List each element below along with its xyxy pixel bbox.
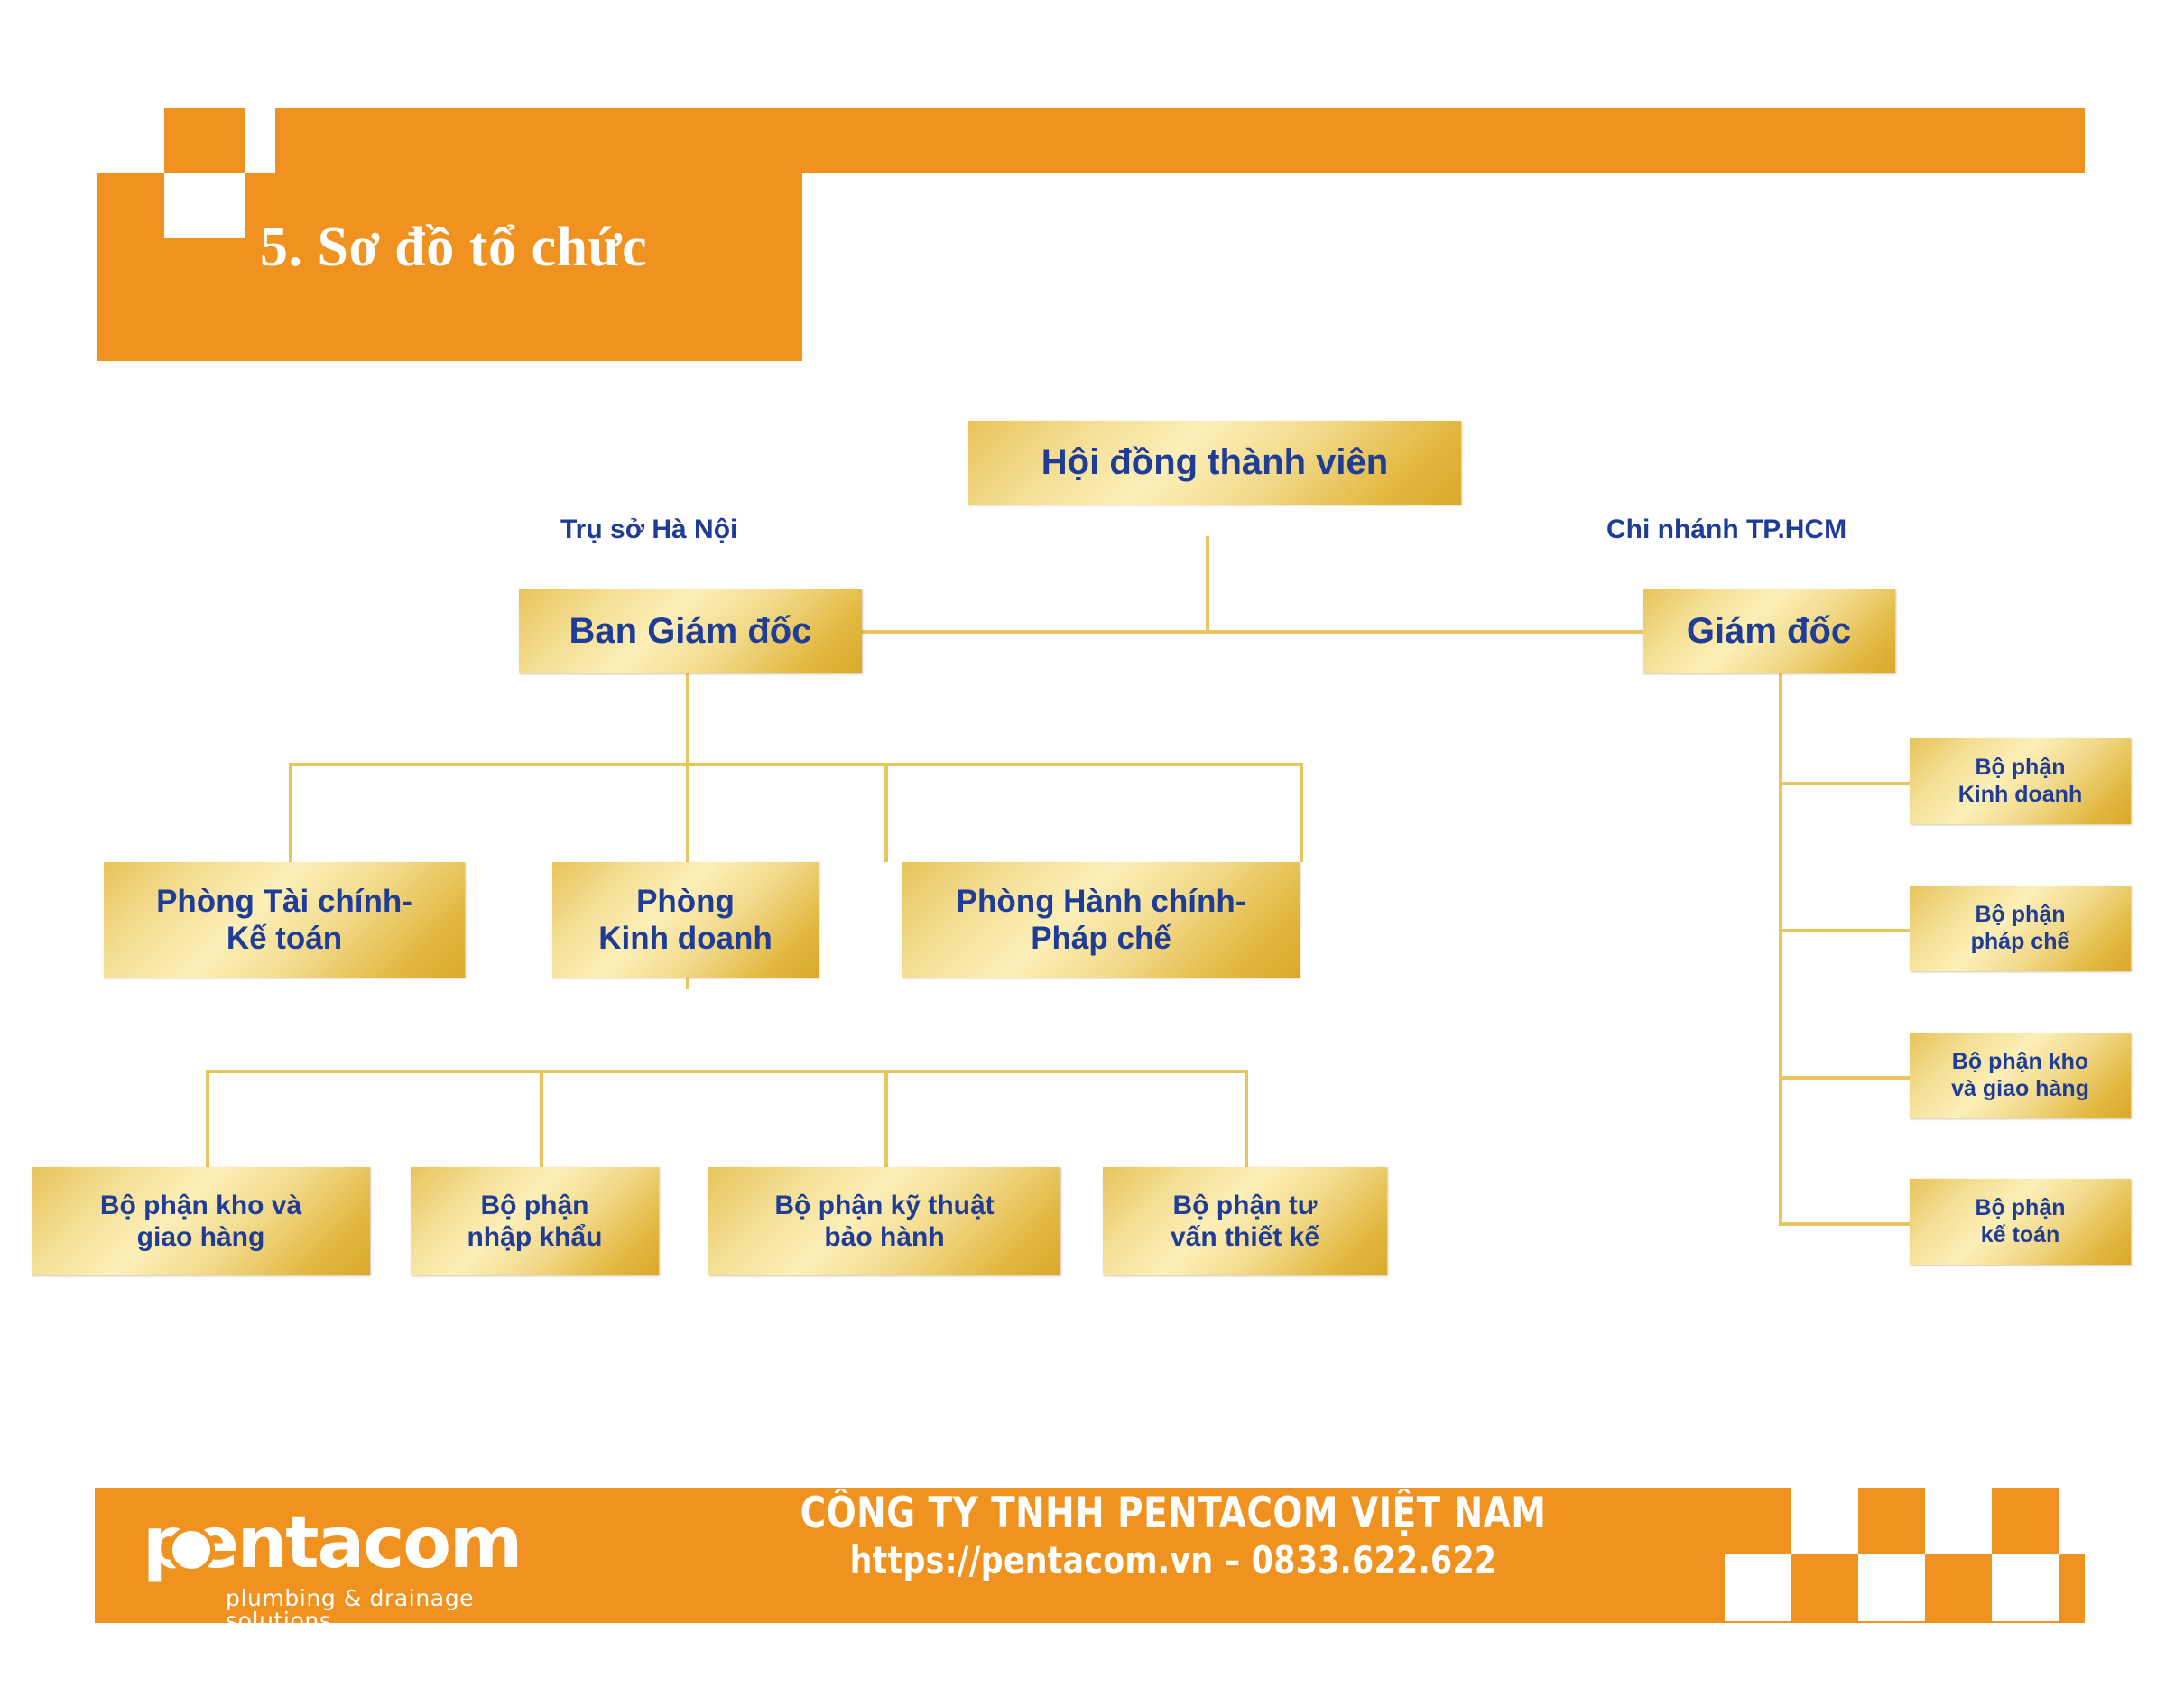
node-ban-giam-doc[interactable]: Ban Giám đốc <box>519 589 862 673</box>
node-line-1: Phòng Hành chính- <box>957 883 1246 920</box>
connector-hanoi-row1-bus <box>289 763 1303 766</box>
node-line-2: nhập khẩu <box>467 1221 602 1253</box>
node-bo-phan-ky-thuat-bao-hanh[interactable]: Bộ phận kỹ thuật bảo hành <box>708 1167 1060 1275</box>
node-line-1: Bộ phận kho và <box>100 1190 301 1221</box>
node-hcm-bo-phan-ke-toan[interactable]: Bộ phận kế toán <box>1910 1179 2131 1265</box>
connector-hcm-stub-2 <box>1779 929 1910 932</box>
node-phong-hanh-chinh-phap-che[interactable]: Phòng Hành chính- Pháp chế <box>902 862 1300 978</box>
node-bo-phan-kho-va-giao-hang[interactable]: Bộ phận kho và giao hàng <box>32 1167 370 1275</box>
node-line-2: pháp chế <box>1971 929 2070 956</box>
footer-company-block: CÔNG TY TNHH PENTACOM VIỆT NAM https://p… <box>740 1489 1606 1583</box>
node-line-2: Kinh doanh <box>1958 782 2082 809</box>
node-line-1: Bộ phận kho <box>1952 1049 2088 1076</box>
connector-hanoi-row2-drop-1 <box>206 1070 209 1167</box>
node-line-2: Kinh doanh <box>598 920 772 957</box>
node-bo-phan-tu-van-thiet-ke[interactable]: Bộ phận tư vấn thiết kế <box>1103 1167 1387 1275</box>
footer-square-white-1 <box>1791 1488 1858 1554</box>
connector-root-stem <box>1206 536 1209 632</box>
connector-hcm-stub-1 <box>1779 782 1910 785</box>
connector-hcm-trunk <box>1779 673 1782 1226</box>
footer-square-white-4 <box>1725 1554 1791 1621</box>
node-hoi-dong-thanh-vien[interactable]: Hội đồng thành viên <box>968 421 1461 505</box>
node-line-1: Bộ phận <box>1976 1195 2066 1222</box>
node-bo-phan-nhap-khau[interactable]: Bộ phận nhập khẩu <box>411 1167 659 1275</box>
footer-square-white-5 <box>1858 1554 1925 1621</box>
node-line-1: Bộ phận <box>481 1190 589 1221</box>
connector-hanoi-row2-drop-3 <box>884 1070 888 1167</box>
node-line-1: Bộ phận <box>1976 755 2066 782</box>
org-chart: Trụ sở Hà Nội Chi nhánh TP.HCM Hội đồng … <box>0 0 2184 1408</box>
node-line-2: vấn thiết kế <box>1171 1221 1319 1253</box>
node-line-2: Kế toán <box>227 920 342 957</box>
company-name: CÔNG TY TNHH PENTACOM VIỆT NAM <box>774 1489 1571 1538</box>
node-line-2: bảo hành <box>824 1221 944 1253</box>
node-hcm-bo-phan-kinh-doanh[interactable]: Bộ phận Kinh doanh <box>1910 738 2131 824</box>
node-line-1: Bộ phận <box>1976 902 2066 929</box>
connector-hanoi-row1-drop-2 <box>686 763 689 862</box>
connector-hcm-stub-4 <box>1779 1222 1910 1226</box>
connector-hanoi-row1-drop-3 <box>884 763 888 862</box>
node-phong-tai-chinh-ke-toan[interactable]: Phòng Tài chính- Kế toán <box>104 862 465 978</box>
logo-tagline: plumbing & drainage solutions <box>226 1587 541 1632</box>
branch-label-hcm: Chi nhánh TP.HCM <box>1606 515 1846 545</box>
connector-hanoi-row2-drop-2 <box>540 1070 543 1167</box>
node-line-1: Phòng <box>636 883 735 920</box>
connector-hanoi-row2-drop-4 <box>1245 1070 1248 1167</box>
water-drop-icon <box>168 1526 215 1573</box>
node-line-1: Bộ phận tư <box>1172 1190 1317 1221</box>
footer-square-white-6 <box>1992 1554 2059 1621</box>
connector-hanoi-row2-bus <box>206 1070 1248 1073</box>
footer-square-white-2 <box>1925 1488 1992 1554</box>
node-line-2: giao hàng <box>137 1221 265 1253</box>
node-hcm-bo-phan-kho-va-giao-hang[interactable]: Bộ phận kho và giao hàng <box>1910 1033 2131 1118</box>
node-hcm-bo-phan-phap-che[interactable]: Bộ phận pháp chế <box>1910 886 2131 971</box>
node-line-2: và giao hàng <box>1951 1076 2089 1103</box>
node-phong-kinh-doanh[interactable]: Phòng Kinh doanh <box>552 862 819 978</box>
node-giam-doc[interactable]: Giám đốc <box>1643 589 1895 673</box>
slide-page: 5. Sơ đồ tổ chức Trụ sở Hà N <box>0 0 2184 1688</box>
node-line-2: kế toán <box>1981 1222 2060 1249</box>
node-line-2: Pháp chế <box>1031 920 1171 957</box>
connector-hanoi-row1-drop-1 <box>289 763 292 862</box>
node-line-1: Phòng Tài chính- <box>156 883 412 920</box>
node-line-1: Bộ phận kỹ thuật <box>774 1190 994 1221</box>
company-contact[interactable]: https://pentacom.vn – 0833.622.622 <box>774 1538 1571 1583</box>
connector-hcm-stub-3 <box>1779 1076 1910 1080</box>
connector-hanoi-row1-drop-4 <box>1300 763 1303 862</box>
pentacom-logo: pentacom plumbing & drainage solutions <box>117 1494 541 1618</box>
footer-square-white-3 <box>2059 1488 2125 1554</box>
branch-label-hanoi: Trụ sở Hà Nội <box>560 515 737 545</box>
